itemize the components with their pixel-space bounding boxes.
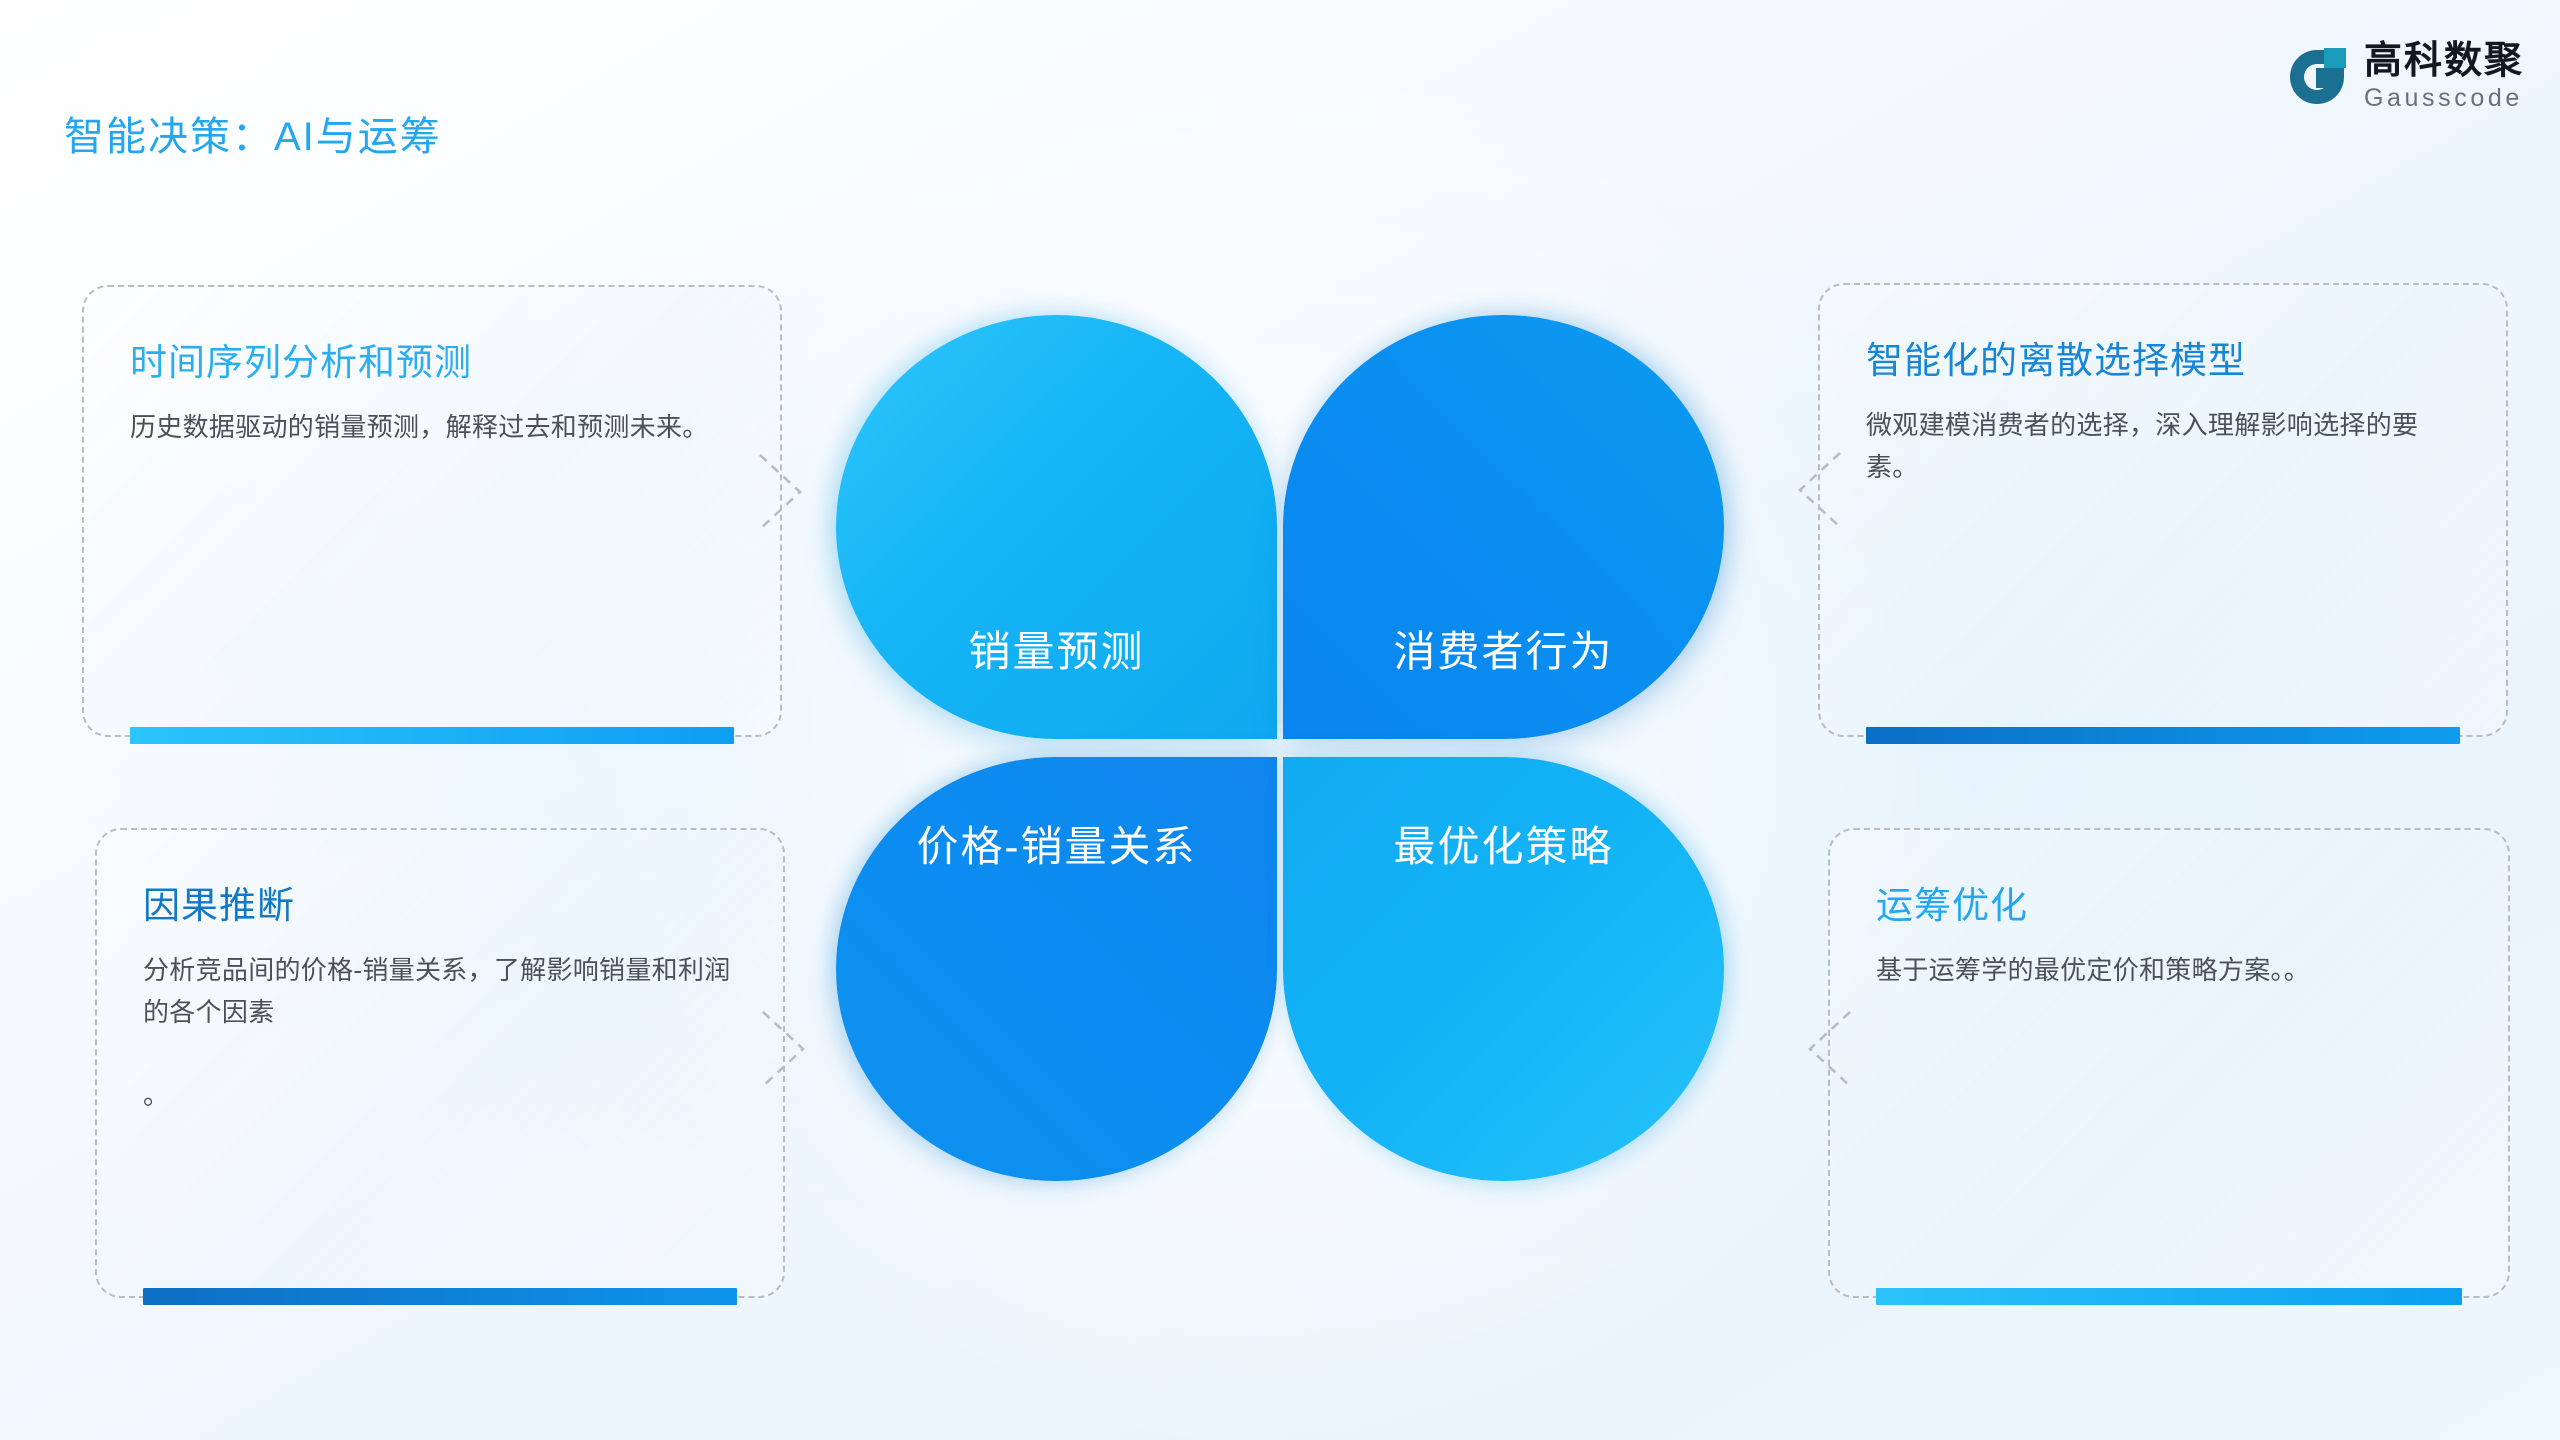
petal-label: 销量预测 [968,618,1144,679]
card-discrete-choice-model[interactable]: 智能化的离散选择模型 微观建模消费者的选择，深入理解影响选择的要素。 [1818,283,2508,737]
logo-wordmark: 高科数聚 Gausscode [2364,42,2524,111]
card-title: 时间序列分析和预测 [130,341,734,385]
gausscode-logo-icon [2286,46,2348,108]
card-title: 因果推断 [143,884,737,928]
card-time-series[interactable]: 时间序列分析和预测 历史数据驱动的销量预测，解释过去和预测未来。 [82,285,782,737]
card-title: 运筹优化 [1876,884,2462,928]
card-body: 分析竞品间的价格-销量关系，了解影响销量和利润的各个因素 。 [143,950,737,1116]
petal-label: 价格-销量关系 [917,813,1197,874]
chevron-left-icon [1796,453,1840,527]
card-body: 微观建模消费者的选择，深入理解影响选择的要素。 [1866,405,2460,488]
card-accent-bar [1866,727,2460,744]
petal-price-sales-relation[interactable]: 价格-销量关系 [836,757,1277,1181]
brand-logo: 高科数聚 Gausscode [2286,42,2524,111]
petal-optimization-strategy[interactable]: 最优化策略 [1283,757,1724,1181]
card-accent-bar [130,727,734,744]
petal-consumer-behavior[interactable]: 消费者行为 [1283,315,1724,739]
card-causal-inference[interactable]: 因果推断 分析竞品间的价格-销量关系，了解影响销量和利润的各个因素 。 [95,828,785,1298]
page-title: 智能决策：AI与运筹 [64,104,442,162]
logo-text-en: Gausscode [2364,86,2524,111]
card-accent-bar [1876,1288,2462,1305]
chevron-right-icon [760,455,804,529]
center-flower-diagram: 销量预测 消费者行为 价格-销量关系 最优化策略 [836,315,1724,1181]
petal-label: 最优化策略 [1393,813,1613,874]
chevron-right-icon [763,1012,807,1086]
card-operations-optimization[interactable]: 运筹优化 基于运筹学的最优定价和策略方案。。 [1828,828,2510,1298]
card-body: 历史数据驱动的销量预测，解释过去和预测未来。 [130,407,734,449]
chevron-left-icon [1806,1012,1850,1086]
card-body: 基于运筹学的最优定价和策略方案。。 [1876,950,2462,992]
slide-canvas: 智能决策：AI与运筹 高科数聚 Gausscode 销量预测 消费者行为 价格-… [0,0,2560,1440]
petal-label: 消费者行为 [1393,618,1613,679]
card-accent-bar [143,1288,737,1305]
petal-sales-forecast[interactable]: 销量预测 [836,315,1277,739]
logo-text-cn: 高科数聚 [2364,42,2524,80]
card-title: 智能化的离散选择模型 [1866,339,2460,383]
